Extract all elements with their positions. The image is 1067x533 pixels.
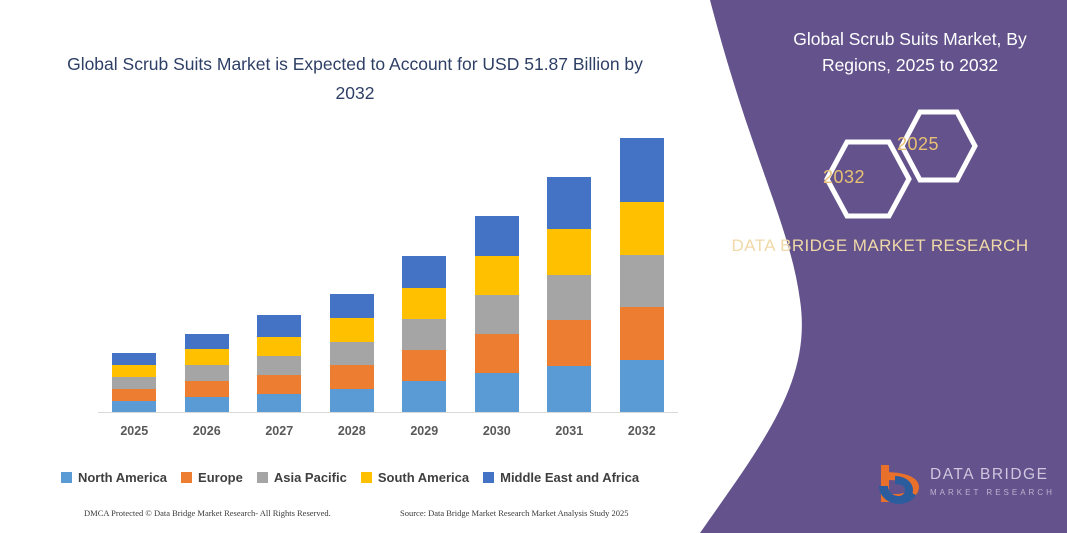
bar-segment[interactable]: [547, 320, 591, 366]
legend-item-middle-east-and-africa[interactable]: Middle East and Africa: [483, 470, 639, 485]
legend-item-europe[interactable]: Europe: [181, 470, 243, 485]
legend-item-north-america[interactable]: North America: [61, 470, 167, 485]
logo-secondary-text: MARKET RESEARCH: [930, 488, 1055, 497]
chart-title: Global Scrub Suits Market is Expected to…: [60, 50, 650, 108]
infographic-page: Global Scrub Suits Market is Expected to…: [0, 0, 1067, 533]
x-axis-label-2031: 2031: [533, 424, 605, 438]
bar-segment[interactable]: [330, 318, 374, 342]
bar-segment[interactable]: [257, 394, 301, 413]
bar-segment[interactable]: [257, 375, 301, 394]
data-bridge-logo-icon: [875, 462, 927, 508]
bar-segment[interactable]: [330, 342, 374, 365]
legend-label: Europe: [198, 470, 243, 485]
x-axis-label-2028: 2028: [316, 424, 388, 438]
bar-2028[interactable]: [330, 294, 374, 413]
bar-segment[interactable]: [402, 350, 446, 381]
bar-segment[interactable]: [330, 365, 374, 389]
bar-segment[interactable]: [185, 334, 229, 349]
bar-segment[interactable]: [620, 255, 664, 307]
bar-segment[interactable]: [547, 275, 591, 320]
x-axis-labels: 20252026202720282029203020312032: [98, 424, 678, 444]
chart-legend: North AmericaEuropeAsia PacificSouth Ame…: [0, 470, 700, 485]
footer-copyright: DMCA Protected © Data Bridge Market Rese…: [84, 508, 331, 518]
chart-panel: Global Scrub Suits Market is Expected to…: [0, 0, 700, 533]
bar-2029[interactable]: [402, 256, 446, 413]
bar-segment[interactable]: [620, 138, 664, 202]
bar-segment[interactable]: [547, 229, 591, 275]
bar-segment[interactable]: [402, 288, 446, 319]
bar-segment[interactable]: [257, 315, 301, 337]
legend-label: North America: [78, 470, 167, 485]
bar-segment[interactable]: [112, 377, 156, 389]
right-purple-panel: Global Scrub Suits Market, By Regions, 2…: [660, 0, 1067, 533]
bar-segment[interactable]: [185, 397, 229, 413]
bar-2027[interactable]: [257, 315, 301, 413]
logo-primary-text: DATA BRIDGE: [930, 466, 1055, 484]
bar-segment[interactable]: [402, 319, 446, 350]
bar-segment[interactable]: [257, 356, 301, 375]
bar-segment[interactable]: [112, 389, 156, 401]
footer-source: Source: Data Bridge Market Research Mark…: [400, 508, 629, 518]
bar-segment[interactable]: [257, 337, 301, 356]
legend-swatch-icon: [361, 472, 372, 483]
x-axis-label-2026: 2026: [171, 424, 243, 438]
bar-2025[interactable]: [112, 353, 156, 413]
bar-segment[interactable]: [475, 373, 519, 413]
bar-segment[interactable]: [475, 334, 519, 373]
bar-segment[interactable]: [330, 389, 374, 413]
bar-2030[interactable]: [475, 216, 519, 413]
bar-2032[interactable]: [620, 138, 664, 413]
bar-segment[interactable]: [185, 381, 229, 397]
bar-segment[interactable]: [475, 216, 519, 256]
company-logo: DATA BRIDGE MARKET RESEARCH: [875, 462, 1060, 512]
bar-segment[interactable]: [547, 177, 591, 229]
brand-name: DATA BRIDGE MARKET RESEARCH: [730, 232, 1030, 259]
bar-2031[interactable]: [547, 177, 591, 413]
bar-segment[interactable]: [402, 256, 446, 288]
legend-item-asia-pacific[interactable]: Asia Pacific: [257, 470, 347, 485]
legend-label: Middle East and Africa: [500, 470, 639, 485]
bar-segment[interactable]: [620, 202, 664, 255]
bar-2026[interactable]: [185, 334, 229, 413]
bar-segment[interactable]: [112, 365, 156, 377]
legend-swatch-icon: [483, 472, 494, 483]
bar-segment[interactable]: [475, 295, 519, 334]
bar-segment[interactable]: [112, 353, 156, 365]
bar-segment[interactable]: [620, 360, 664, 413]
stacked-bar-plot: [98, 120, 678, 413]
x-axis-label-2030: 2030: [461, 424, 533, 438]
logo-text-block: DATA BRIDGE MARKET RESEARCH: [930, 466, 1055, 497]
bar-segment[interactable]: [620, 307, 664, 360]
legend-swatch-icon: [61, 472, 72, 483]
x-axis-label-2029: 2029: [388, 424, 460, 438]
bar-segment[interactable]: [330, 294, 374, 318]
legend-swatch-icon: [257, 472, 268, 483]
legend-swatch-icon: [181, 472, 192, 483]
legend-item-south-america[interactable]: South America: [361, 470, 469, 485]
legend-label: South America: [378, 470, 469, 485]
bar-segment[interactable]: [402, 381, 446, 413]
bar-segment[interactable]: [185, 365, 229, 381]
chart-baseline: [98, 412, 678, 413]
bar-segment[interactable]: [475, 256, 519, 295]
x-axis-label-2027: 2027: [243, 424, 315, 438]
legend-label: Asia Pacific: [274, 470, 347, 485]
panel-title: Global Scrub Suits Market, By Regions, 2…: [765, 26, 1055, 78]
x-axis-label-2025: 2025: [98, 424, 170, 438]
bar-segment[interactable]: [185, 349, 229, 365]
bar-segment[interactable]: [547, 366, 591, 413]
